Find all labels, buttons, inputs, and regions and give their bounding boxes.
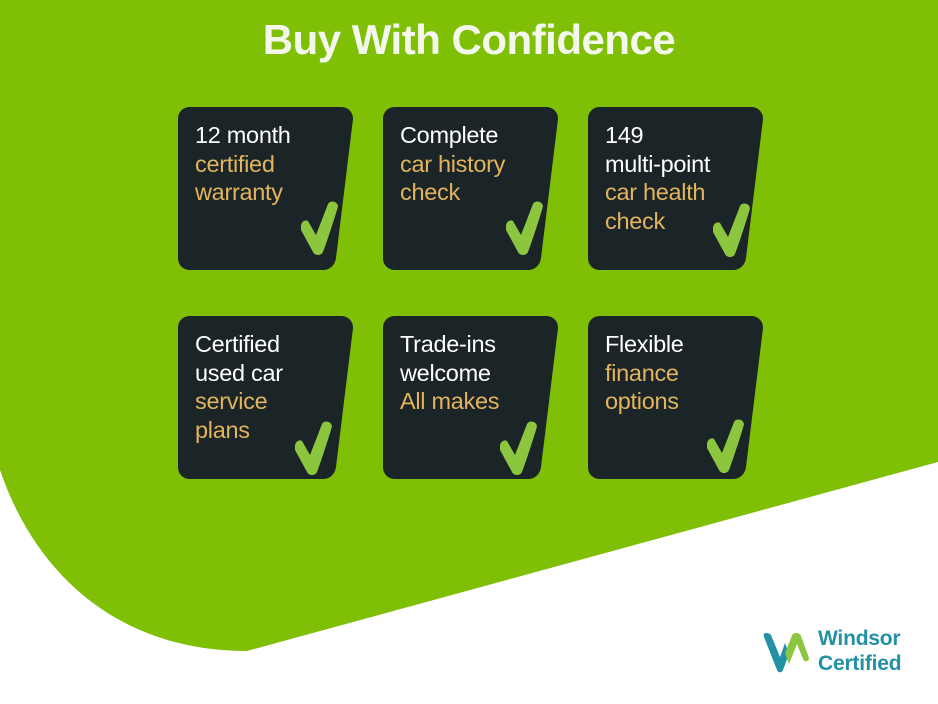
card-line-white: Complete	[400, 121, 546, 150]
logo-wordmark: Windsor Certified	[818, 627, 901, 677]
check-mark-icon	[291, 419, 335, 477]
benefit-card[interactable]: Trade-ins welcome All makes	[383, 316, 558, 479]
check-mark-icon	[496, 419, 540, 477]
card-text: Flexible finance options	[605, 330, 751, 416]
card-line-gold: service	[195, 387, 341, 416]
check-mark-icon	[502, 199, 546, 257]
card-line-white: 12 month	[195, 121, 341, 150]
card-line-white: welcome	[400, 359, 546, 388]
check-mark-icon	[297, 199, 341, 257]
logo-line-1: Windsor	[818, 627, 901, 652]
card-line-gold: car history	[400, 150, 546, 179]
benefit-card[interactable]: 149 multi-point car health check	[588, 107, 763, 270]
benefit-card[interactable]: Flexible finance options	[588, 316, 763, 479]
card-line-gold: finance	[605, 359, 751, 388]
check-mark-icon	[709, 201, 753, 259]
windsor-w-logo-icon	[763, 629, 813, 675]
promo-banner: Buy With Confidence 12 month certified w…	[0, 0, 938, 704]
benefit-card[interactable]: Complete car history check	[383, 107, 558, 270]
card-line-gold: All makes	[400, 387, 546, 416]
page-title: Buy With Confidence	[0, 16, 938, 64]
card-line-white: Trade-ins	[400, 330, 546, 359]
benefit-card[interactable]: Certified used car service plans	[178, 316, 353, 479]
card-line-white: 149	[605, 121, 751, 150]
benefits-card-grid: 12 month certified warranty Complete car…	[178, 107, 758, 479]
card-line-white: used car	[195, 359, 341, 388]
card-line-white: Flexible	[605, 330, 751, 359]
brand-logo[interactable]: Windsor Certified	[763, 627, 933, 681]
card-text: Complete car history check	[400, 121, 546, 207]
card-line-gold: certified	[195, 150, 341, 179]
benefit-card[interactable]: 12 month certified warranty	[178, 107, 353, 270]
check-mark-icon	[703, 417, 747, 475]
card-text: Trade-ins welcome All makes	[400, 330, 546, 416]
card-line-gold: options	[605, 387, 751, 416]
logo-line-2: Certified	[818, 652, 901, 677]
card-line-white: multi-point	[605, 150, 751, 179]
card-text: 12 month certified warranty	[195, 121, 341, 207]
card-line-white: Certified	[195, 330, 341, 359]
